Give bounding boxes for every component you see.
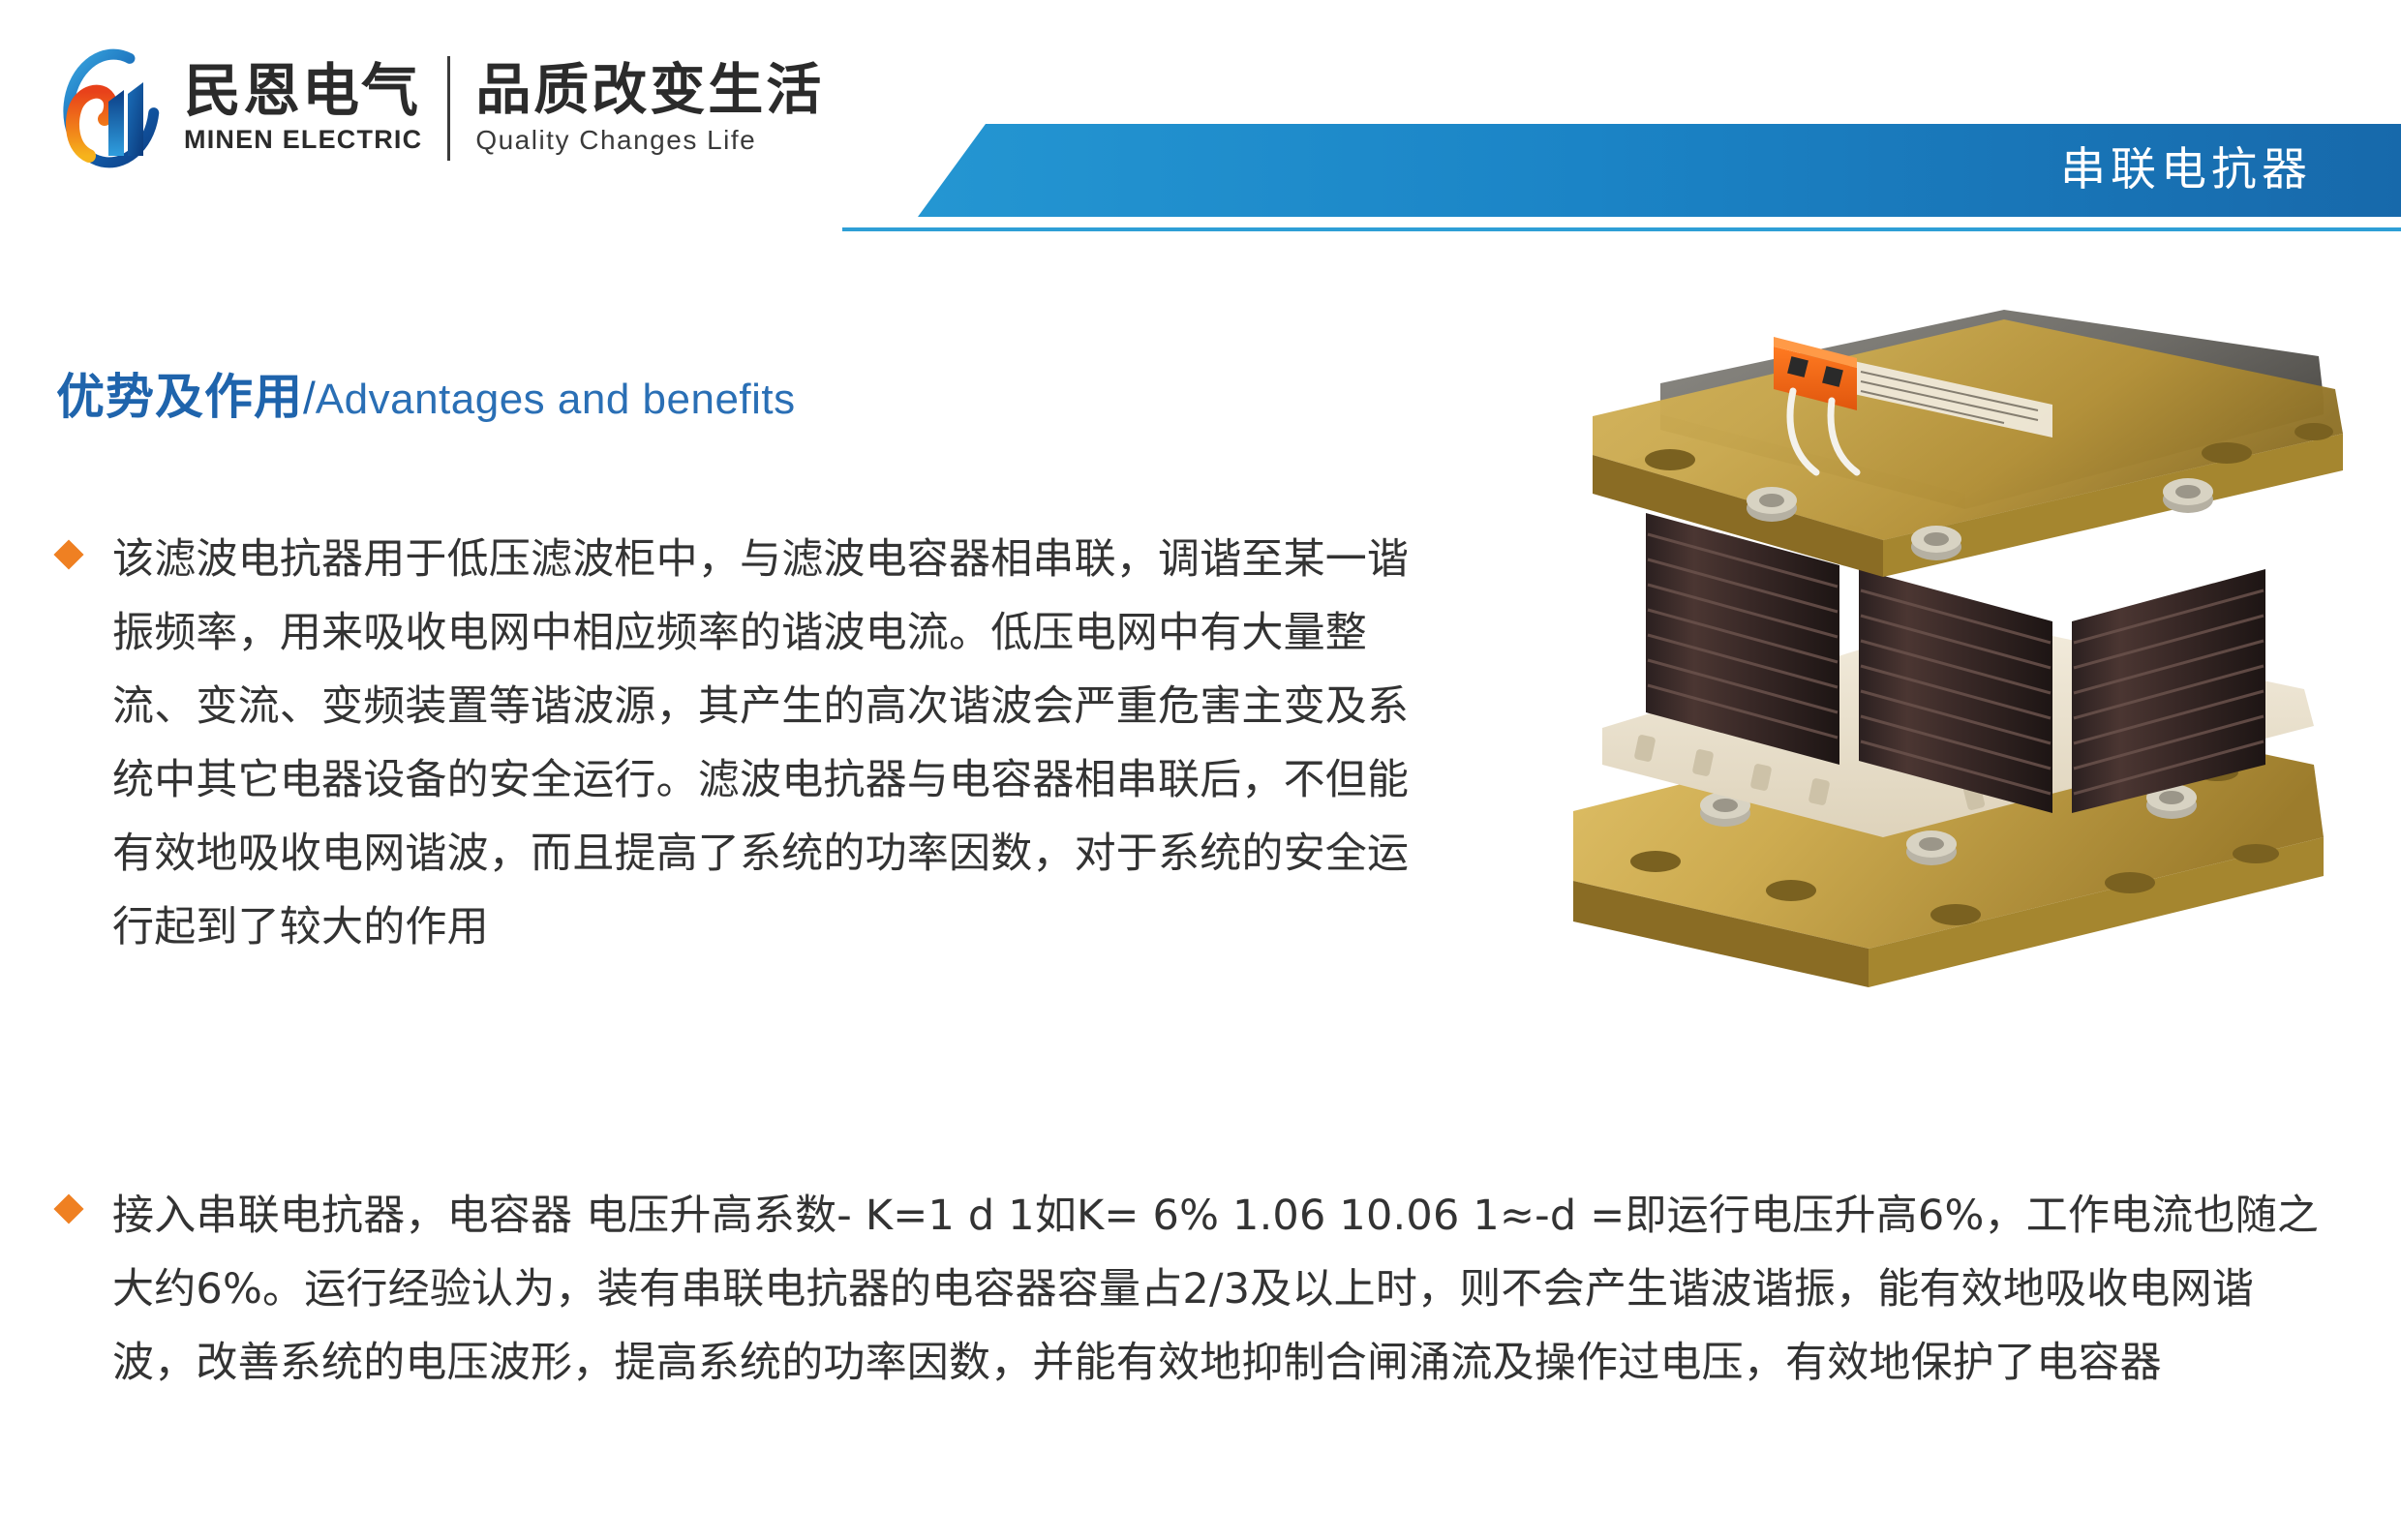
banner-underline <box>842 227 2401 231</box>
section-heading: 优势及作用/Advantages and benefits <box>56 373 796 421</box>
page-title: 串联电抗器 <box>2060 124 2312 217</box>
bullet-item: 该滤波电抗器用于低压滤波柜中，与滤波电容器相串联，调谐至某一谐振频率，用来吸收电… <box>58 523 1443 964</box>
bullet-paragraph: 该滤波电抗器用于低压滤波柜中，与滤波电容器相串联，调谐至某一谐振频率，用来吸收电… <box>112 523 1443 964</box>
bullet-item: 接入串联电抗器，电容器 电压升高系数- K=1 d 1如K= 6% 1.06 1… <box>58 1179 2333 1400</box>
slogan-cn: 品质改变生活 <box>475 62 824 118</box>
diamond-bullet-icon <box>53 1193 83 1223</box>
bullet-text: 该滤波电抗器用于低压滤波柜中，与滤波电容器相串联，调谐至某一谐振频率，用来吸收电… <box>112 523 1443 964</box>
bullet-paragraph: 接入串联电抗器，电容器 电压升高系数- K=1 d 1如K= 6% 1.06 1… <box>112 1179 2333 1400</box>
page-header: 民恩电气 MINEN ELECTRIC 品质改变生活 Quality Chang… <box>0 0 2401 242</box>
company-name-cn: 民恩电气 <box>184 62 422 120</box>
logo-divider <box>447 56 450 161</box>
slogan-block: 品质改变生活 Quality Changes Life <box>475 51 824 166</box>
bullet-text: 接入串联电抗器，电容器 电压升高系数- K=1 d 1如K= 6% 1.06 1… <box>112 1179 2333 1400</box>
logo-text-block: 民恩电气 MINEN ELECTRIC 品质改变生活 Quality Chang… <box>184 51 824 166</box>
section-heading-separator: / <box>303 373 316 423</box>
company-name-block: 民恩电气 MINEN ELECTRIC <box>184 51 422 166</box>
diamond-bullet-icon <box>53 539 83 569</box>
company-name-en: MINEN ELECTRIC <box>184 126 422 155</box>
page-title-banner: 串联电抗器 <box>918 124 2401 217</box>
slogan-en: Quality Changes Life <box>475 126 824 156</box>
minen-circular-buildings-logo-icon <box>50 47 172 169</box>
section-heading-en: Advantages and benefits <box>316 376 796 423</box>
section-heading-cn: 优势及作用 <box>56 369 303 425</box>
series-reactor-photo <box>1549 310 2362 1084</box>
company-logo: 民恩电气 MINEN ELECTRIC 品质改变生活 Quality Chang… <box>50 50 824 166</box>
